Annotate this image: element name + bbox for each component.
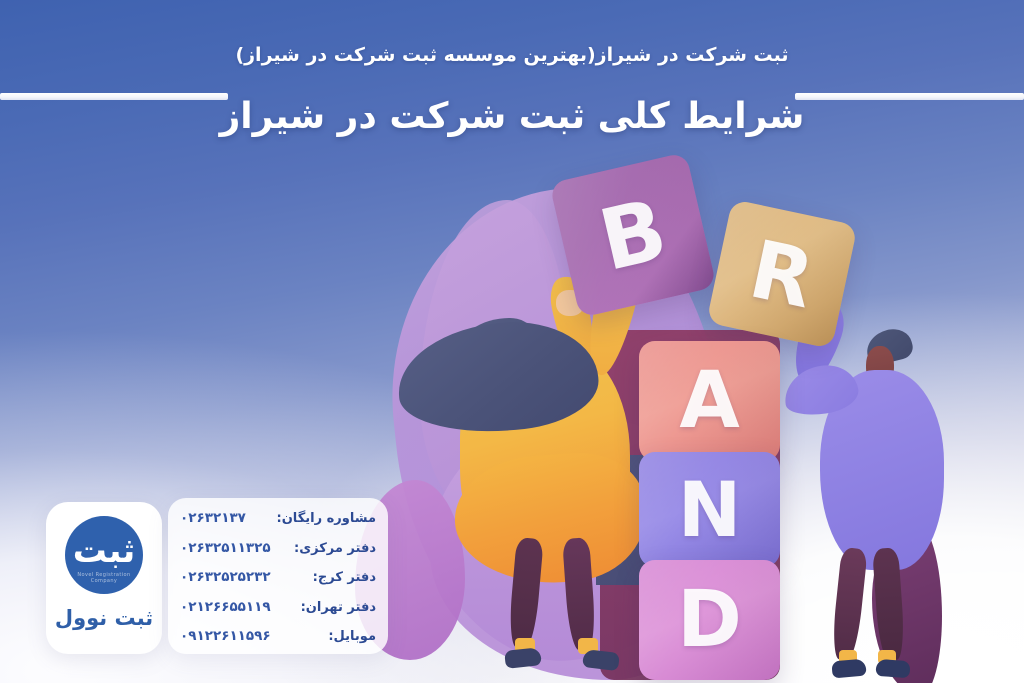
- contact-number[interactable]: ۰۹۱۲۲۶۱۱۵۹۶: [180, 628, 271, 644]
- right-figure-shoe-right: [875, 659, 910, 678]
- logo-card[interactable]: ثبت Novel Registration Company ثبت نوول: [46, 502, 162, 654]
- left-figure-hair: [394, 316, 601, 438]
- right-figure-leg-right: [872, 547, 906, 661]
- page-title: شرایط کلی ثبت شرکت در شیراز: [0, 96, 1024, 137]
- contact-number[interactable]: ۰۲۶۳۲۱۳۷: [180, 510, 246, 526]
- brand-block-r-letter: R: [742, 222, 822, 326]
- contact-card: مشاوره رایگان: ۰۲۶۳۲۱۳۷ دفتر مرکزی: ۰۲۶۳…: [168, 498, 388, 654]
- background-blob-deep-purple: [872, 520, 942, 683]
- brand-block-b-letter: B: [591, 180, 675, 290]
- left-figure-shoe-left: [504, 647, 542, 669]
- contact-label: دفتر مرکزی:: [294, 541, 376, 556]
- right-figure-leg-left: [830, 547, 868, 661]
- contact-row[interactable]: دفتر مرکزی: ۰۲۶۳۲۵۱۱۳۲۵: [180, 540, 376, 556]
- contact-number[interactable]: ۰۲۶۳۲۵۱۱۳۲۵: [180, 540, 271, 556]
- left-figure-shoe-right: [582, 649, 620, 671]
- background-blob-lavender-tall: [420, 200, 570, 530]
- left-figure-sock-left: [515, 638, 535, 654]
- left-figure-leg-right: [562, 537, 597, 651]
- brand-block-a: A: [639, 341, 780, 461]
- contact-row[interactable]: مشاوره رایگان: ۰۲۶۳۲۱۳۷: [180, 510, 376, 526]
- contact-label: دفتر کرج:: [313, 570, 376, 585]
- brand-block-n: N: [639, 452, 780, 567]
- left-figure-face: [474, 330, 516, 376]
- banner-canvas: B R A N D ثبت شرکت در شیراز(بهترین موسسه…: [0, 0, 1024, 683]
- right-figure-arm: [781, 361, 861, 419]
- brand-block-a-letter: A: [679, 356, 739, 446]
- left-figure-leg-left: [507, 537, 543, 649]
- brand-block-n-letter: N: [678, 465, 742, 554]
- right-figure-head: [866, 346, 894, 388]
- contact-label: موبایل:: [328, 629, 376, 644]
- contact-label: دفتر تهران:: [301, 600, 376, 615]
- brand-block-b: B: [549, 152, 716, 318]
- right-figure-body: [820, 370, 944, 570]
- logo-wordmark: ثبت نوول: [55, 606, 153, 630]
- banner-subtitle: ثبت شرکت در شیراز(بهترین موسسه ثبت شرکت …: [0, 44, 1024, 66]
- logo-latin-subtext: Novel Registration Company: [65, 572, 143, 586]
- right-figure-sock-left: [839, 650, 857, 664]
- left-figure-sock-right: [578, 638, 598, 654]
- contact-number[interactable]: ۰۲۶۳۲۵۲۵۲۳۲: [180, 569, 271, 585]
- contact-row[interactable]: موبایل: ۰۹۱۲۲۶۱۱۵۹۶: [180, 628, 376, 644]
- right-figure-sock-right: [878, 650, 896, 664]
- logo-circle: ثبت Novel Registration Company: [65, 516, 143, 594]
- contact-label: مشاوره رایگان:: [277, 511, 376, 526]
- logo-calligraphy-mark: ثبت: [73, 534, 136, 568]
- right-figure-shoe-left: [831, 659, 866, 679]
- brand-block-d: D: [639, 560, 780, 680]
- left-figure-body: [460, 345, 630, 575]
- brand-block-d-letter: D: [677, 575, 742, 665]
- brand-block-r: R: [706, 199, 857, 349]
- contact-row[interactable]: دفتر کرج: ۰۲۶۳۲۵۲۵۲۳۲: [180, 569, 376, 585]
- contact-number[interactable]: ۰۲۱۲۶۶۵۵۱۱۹: [180, 599, 271, 615]
- contact-row[interactable]: دفتر تهران: ۰۲۱۲۶۶۵۵۱۱۹: [180, 599, 376, 615]
- right-figure-hair: [863, 325, 915, 367]
- left-figure-hair-top: [456, 318, 546, 388]
- left-figure-skirt: [451, 449, 649, 590]
